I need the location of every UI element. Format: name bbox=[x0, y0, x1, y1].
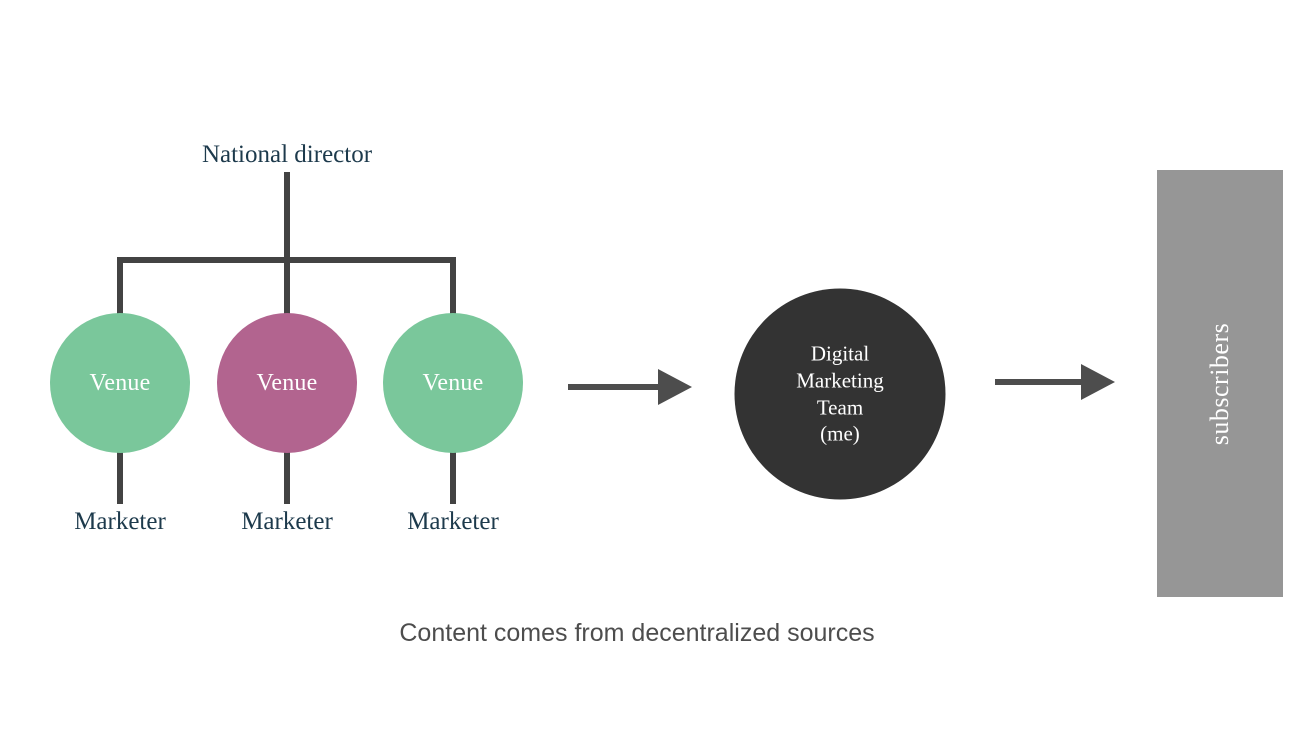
venue-node-1-label: Venue bbox=[90, 371, 151, 395]
venue-node-1[interactable]: Venue bbox=[50, 313, 190, 453]
arrow-hub-to-subscribers bbox=[995, 364, 1115, 400]
connector-stem-3 bbox=[450, 450, 456, 504]
marketer-label-3: Marketer bbox=[407, 509, 499, 534]
arrow-hub-to-subscribers-head bbox=[1081, 364, 1115, 400]
arrow-hub-to-subscribers-shaft bbox=[995, 379, 1093, 385]
diagram-caption: Content comes from decentralized sources bbox=[399, 621, 874, 646]
arrow-venues-to-hub-head bbox=[658, 369, 692, 405]
marketer-label-2: Marketer bbox=[241, 509, 333, 534]
marketer-label-1: Marketer bbox=[74, 509, 166, 534]
digital-marketing-team-node[interactable]: Digital Marketing Team (me) bbox=[735, 289, 946, 500]
subscribers-bar-label: subscribers bbox=[1207, 322, 1233, 444]
digital-marketing-team-label: Digital Marketing Team (me) bbox=[796, 340, 883, 448]
venue-node-3[interactable]: Venue bbox=[383, 313, 523, 453]
org-chart-group: National director Venue Venue Venue Mark… bbox=[0, 0, 560, 560]
venue-node-3-label: Venue bbox=[423, 371, 484, 395]
connector-stem-2 bbox=[284, 450, 290, 504]
connector-root-trunk bbox=[284, 172, 290, 263]
arrow-venues-to-hub-shaft bbox=[568, 384, 670, 390]
diagram-canvas: National director Venue Venue Venue Mark… bbox=[0, 0, 1306, 735]
connector-stem-1 bbox=[117, 450, 123, 504]
venue-node-2-label: Venue bbox=[257, 371, 318, 395]
arrow-venues-to-hub bbox=[568, 369, 692, 405]
subscribers-bar[interactable]: subscribers bbox=[1157, 170, 1283, 597]
venue-node-2[interactable]: Venue bbox=[217, 313, 357, 453]
org-root-label: National director bbox=[202, 142, 372, 167]
